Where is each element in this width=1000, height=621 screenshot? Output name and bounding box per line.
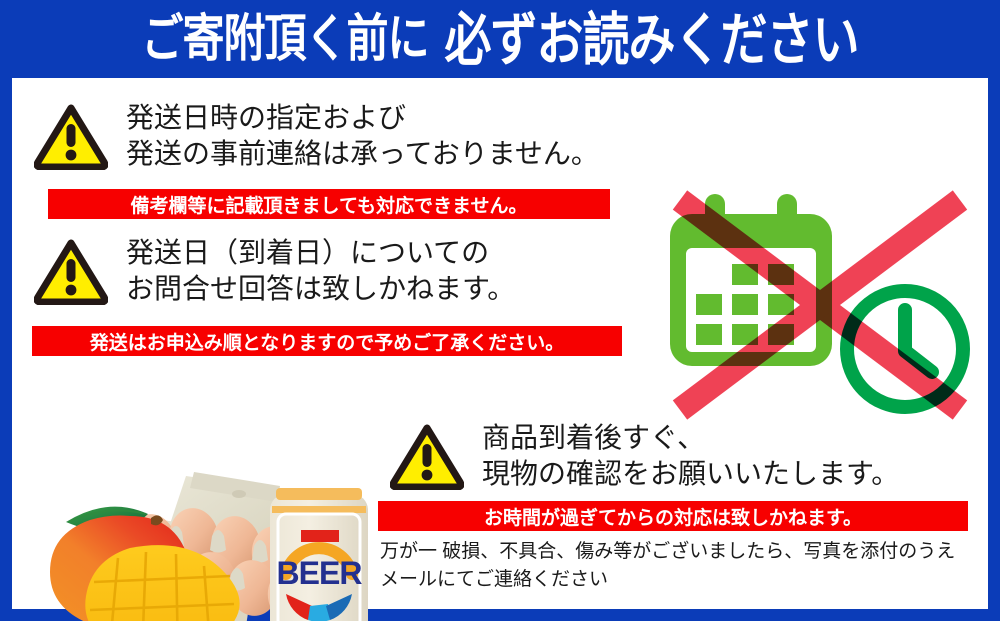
page-title-part2: 必ずお読みください (445, 10, 859, 67)
calendar-clock-prohibited-illustration (660, 186, 990, 454)
content-panel: 発送日時の指定および 発送の事前連絡は承っておりません。 備考欄等に記載頂きまし… (12, 78, 988, 609)
notice-text-shipping-date: 発送日時の指定および 発送の事前連絡は承っておりません。 (126, 100, 599, 172)
beer-can-icon: BEER (270, 488, 368, 621)
warning-triangle-icon (34, 104, 108, 170)
alert-banner-order-sequence: 発送はお申込み順となりますので予めご了承ください。 (32, 326, 622, 356)
promo-notice-banner: ご寄附頂く前に 必ずお読みください 発送日時の指定および 発送の事前連絡は承って… (0, 0, 1000, 621)
alert-banner-remarks: 備考欄等に記載頂きましても対応できません。 (48, 189, 610, 219)
fineprint-contact-instructions: 万が一 破損、不具合、傷み等がございましたら、写真を添付のうえ メールにてご連絡… (380, 538, 955, 593)
warning-triangle-icon (34, 239, 108, 305)
notice-block-shipping-date: 発送日時の指定および 発送の事前連絡は承っておりません。 (34, 100, 599, 172)
page-title-part1: ご寄附頂く前に (141, 13, 428, 64)
page-header: ご寄附頂く前に 必ずお読みください (0, 0, 1000, 78)
product-sample-illustration: BEER (34, 470, 384, 621)
warning-triangle-icon (390, 424, 464, 490)
notice-block-arrival-inquiry: 発送日（到着日）についての お問合せ回答は致しかねます。 (34, 235, 515, 307)
beer-can-label: BEER (277, 555, 363, 591)
notice-text-arrival-inquiry: 発送日（到着日）についての お問合せ回答は致しかねます。 (126, 235, 515, 307)
alert-banner-time-limit: お時間が過ぎてからの対応は致しかねます。 (378, 501, 968, 531)
